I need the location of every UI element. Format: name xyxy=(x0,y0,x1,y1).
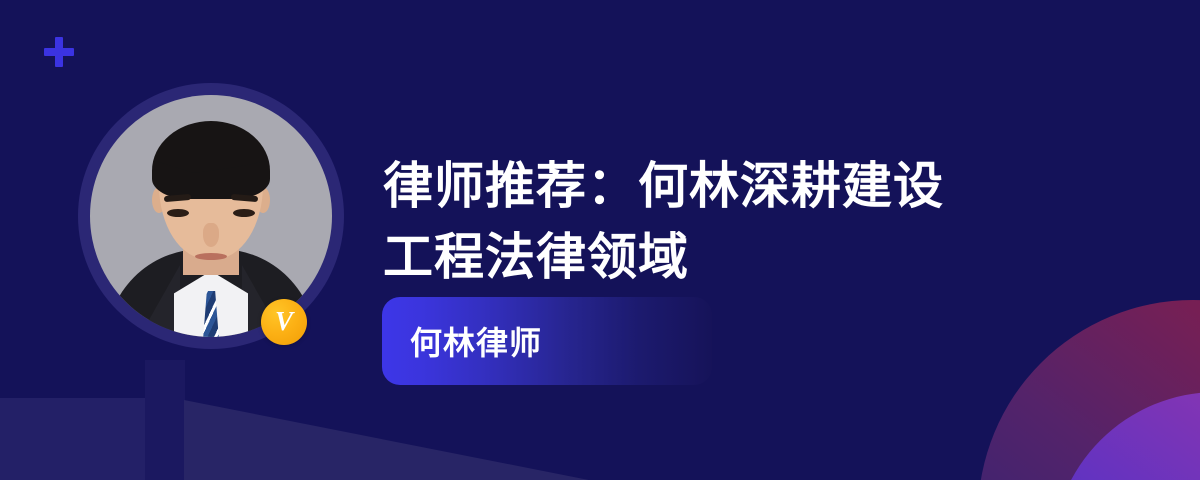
portrait-eye-left xyxy=(167,209,189,217)
portrait-nose xyxy=(203,223,219,247)
plus-icon-bar-vertical xyxy=(55,37,63,67)
portrait-hair xyxy=(152,121,270,199)
decor-panel-left xyxy=(0,398,145,480)
plus-icon xyxy=(44,37,74,67)
portrait-eye-right xyxy=(233,209,255,217)
portrait-mouth xyxy=(195,253,227,260)
decor-gradient-circle-outer xyxy=(978,300,1200,480)
decor-panel-post xyxy=(145,360,185,480)
avatar-photo xyxy=(90,95,332,337)
page-title: 律师推荐：何林深耕建设 工程法律领域 xyxy=(383,151,1103,293)
decor-triangle xyxy=(184,400,614,480)
decor-gradient-circle-inner xyxy=(1052,392,1200,480)
lawyer-recommendation-banner: V 律师推荐：何林深耕建设 工程法律领域 何林律师 xyxy=(0,0,1200,480)
lawyer-name-label: 何林律师 xyxy=(410,318,542,364)
lawyer-name-button[interactable]: 何林律师 xyxy=(382,297,712,385)
verified-badge-icon: V xyxy=(261,299,307,345)
avatar xyxy=(78,83,344,349)
verified-badge-label: V xyxy=(275,308,293,335)
